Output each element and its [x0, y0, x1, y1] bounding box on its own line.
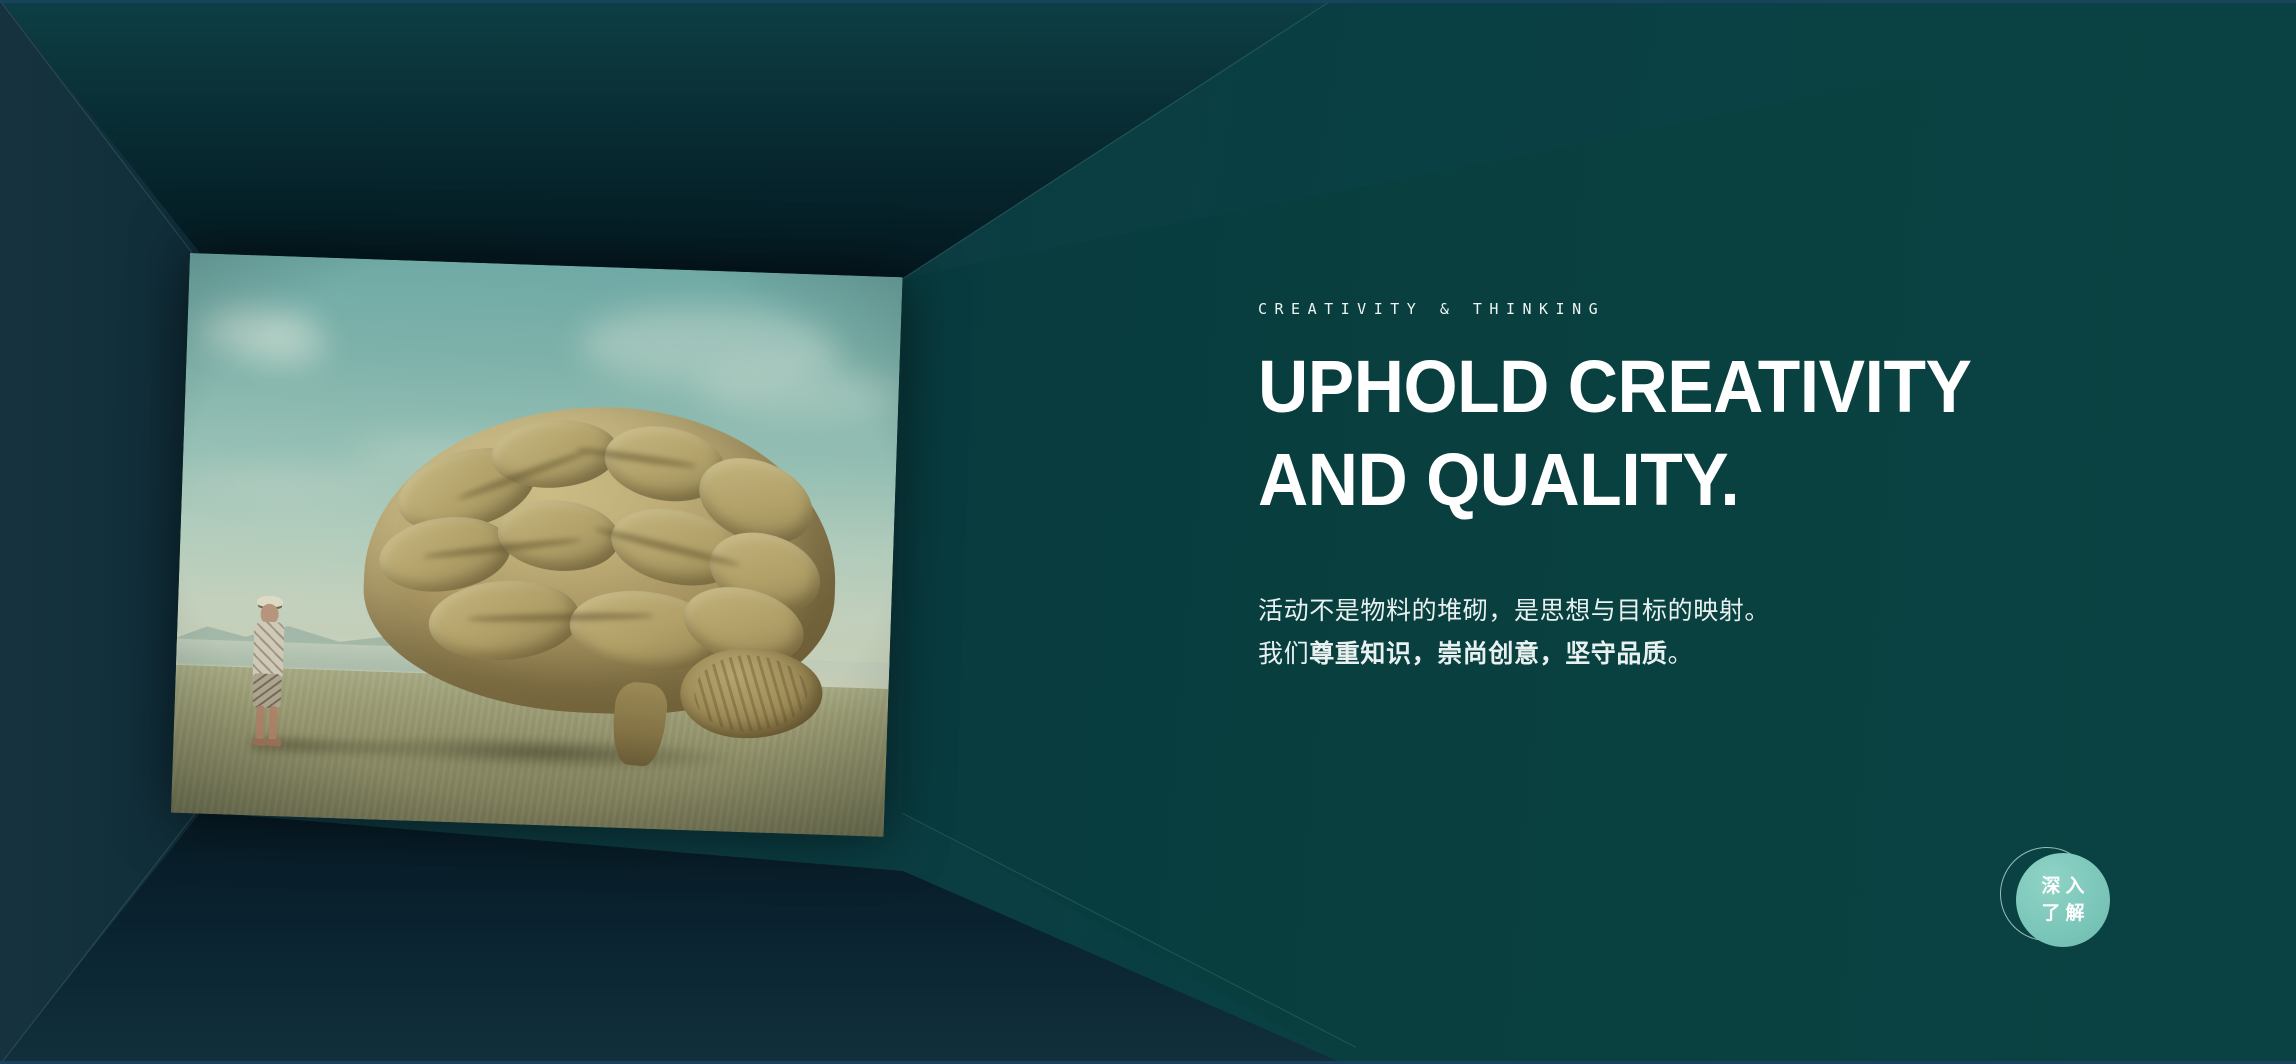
cta-label-line-2: 了解: [2036, 900, 2089, 927]
subcopy-line-2-prefix: 我们: [1258, 640, 1309, 668]
subcopy-line-2-emphasis: 尊重知识，崇尚创意，坚守品质: [1309, 640, 1667, 668]
hero-headline: UPHOLD CREATIVITY AND QUALITY.: [1258, 340, 2198, 526]
giant-brain: [359, 399, 841, 762]
cta-disc[interactable]: 深入 了解: [2016, 853, 2110, 947]
hero-banner: CREATIVITY & THINKING UPHOLD CREATIVITY …: [0, 0, 2296, 1064]
hero-subcopy: 活动不是物料的堆砌，是思想与目标的映射。 我们尊重知识，崇尚创意，坚守品质。: [1258, 590, 2258, 676]
standing-man: [246, 595, 293, 746]
man-shirt: [252, 621, 284, 678]
subcopy-line-1: 活动不是物料的堆砌，是思想与目标的映射。: [1258, 590, 2258, 633]
hero-eyebrow: CREATIVITY & THINKING: [1258, 300, 2258, 318]
cta-label-line-1: 深入: [2036, 873, 2089, 900]
learn-more-button[interactable]: 深入 了解: [2016, 853, 2110, 947]
man-leg: [268, 706, 277, 742]
man-foot: [252, 738, 267, 746]
brain-stem: [610, 680, 670, 768]
subcopy-line-2: 我们尊重知识，崇尚创意，坚守品质。: [1258, 633, 2258, 676]
hero-copy: CREATIVITY & THINKING UPHOLD CREATIVITY …: [1258, 300, 2258, 676]
viewport-top-rule: [0, 0, 2296, 3]
brain-photo: [171, 253, 903, 837]
man-foot: [266, 739, 281, 747]
man-leg: [255, 706, 264, 742]
man-shorts: [252, 673, 281, 708]
hero-image-panel: [171, 253, 903, 837]
subcopy-line-2-suffix: 。: [1668, 640, 1694, 668]
